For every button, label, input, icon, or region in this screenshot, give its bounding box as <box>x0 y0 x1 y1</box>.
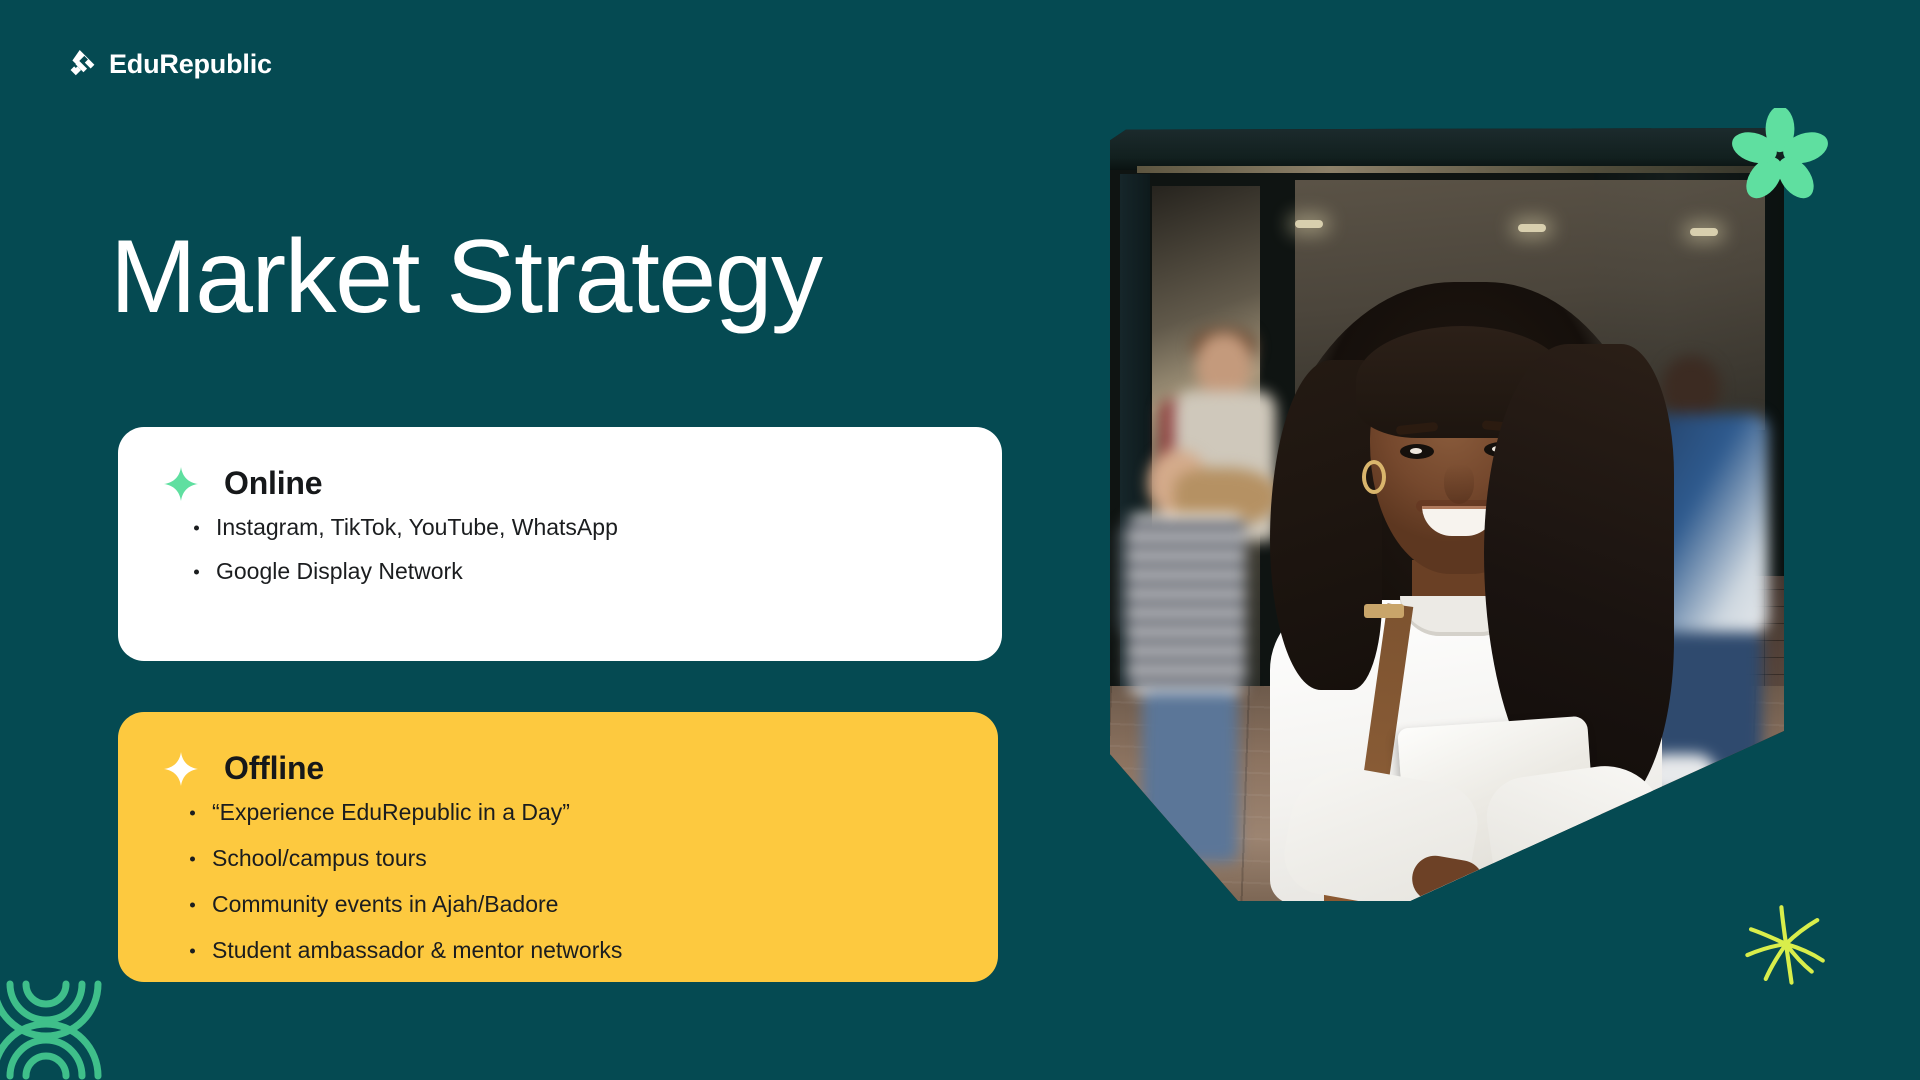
sparkle-four-point-icon <box>164 752 198 786</box>
card-online: Online Instagram, TikTok, YouTube, Whats… <box>118 427 1002 661</box>
student-photo <box>1110 128 1784 901</box>
list-item: “Experience EduRepublic in a Day” <box>190 801 952 824</box>
list-item: School/campus tours <box>190 847 952 870</box>
card-online-header: Online <box>164 465 956 502</box>
sparkle-burst-icon <box>1738 898 1834 990</box>
card-online-bullets: Instagram, TikTok, YouTube, WhatsApp Goo… <box>164 516 956 583</box>
card-online-label: Online <box>224 465 322 502</box>
page-title: Market Strategy <box>110 225 822 329</box>
slide-canvas: EduRepublic Market Strategy Online Insta… <box>0 0 1920 1080</box>
sparkle-four-point-icon <box>164 467 198 501</box>
brand-logo[interactable]: EduRepublic <box>62 46 272 82</box>
list-item: Instagram, TikTok, YouTube, WhatsApp <box>194 516 956 539</box>
list-item: Student ambassador & mentor networks <box>190 939 952 962</box>
card-offline: Offline “Experience EduRepublic in a Day… <box>118 712 998 982</box>
list-item: Google Display Network <box>194 560 956 583</box>
clover-flower-icon <box>1732 108 1828 204</box>
student-figure <box>1252 274 1672 901</box>
card-offline-header: Offline <box>164 750 952 787</box>
concentric-arcs-icon <box>0 966 104 1080</box>
brand-name: EduRepublic <box>109 49 272 80</box>
card-offline-bullets: “Experience EduRepublic in a Day” School… <box>164 801 952 962</box>
edurepublic-diamond-mark-icon <box>62 46 98 82</box>
list-item: Community events in Ajah/Badore <box>190 893 952 916</box>
card-offline-label: Offline <box>224 750 324 787</box>
photo-illustration <box>1110 128 1784 901</box>
